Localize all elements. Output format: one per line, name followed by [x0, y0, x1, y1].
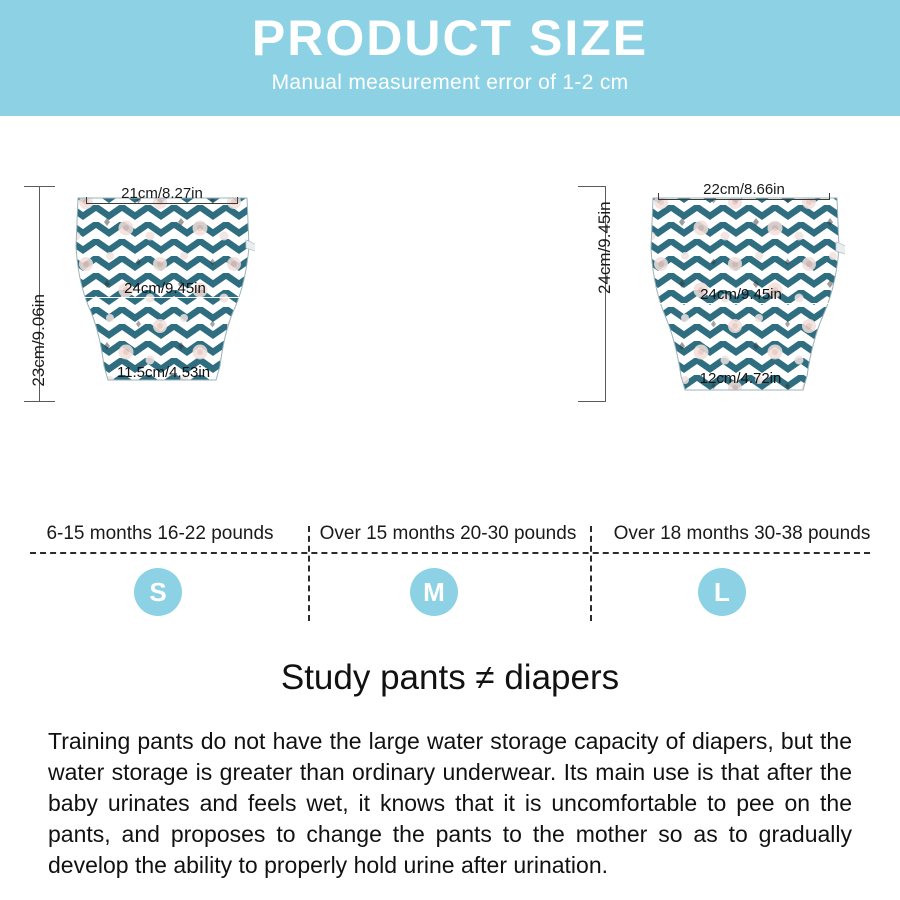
page-header: PRODUCT SIZE Manual measurement error of…: [0, 0, 900, 116]
height-dimension-s: 23cm/9.06in: [22, 186, 56, 402]
top-width-label-s: 21cm/8.27in: [86, 185, 238, 202]
age-weight-label-m: Over 15 months 20-30 pounds: [320, 523, 577, 545]
top-width-dimension-s: 21cm/8.27in: [86, 182, 238, 204]
size-badge-l: L: [698, 568, 746, 616]
age-weight-m: Over 15 months 20-30 pounds: [312, 520, 584, 548]
description-paragraph: Training pants do not have the large wat…: [48, 726, 852, 881]
section-headline: Study pants ≠ diapers: [0, 656, 900, 700]
height-label-s: 23cm/9.06in: [29, 294, 49, 387]
age-weight-l: Over 18 months 30-38 pounds: [596, 520, 888, 548]
middle-width-label-s: 24cm/9.45in: [74, 280, 256, 297]
vertical-divider-1: [308, 526, 310, 621]
age-weight-s: 6-15 months 16-22 pounds: [18, 520, 302, 548]
size-panel-s: 23cm/9.06in 21cm/8.27in 24cm/9.45in 11.5…: [0, 174, 300, 514]
vertical-divider-2: [590, 526, 592, 621]
page-title: PRODUCT SIZE: [252, 10, 648, 66]
horizontal-divider: [30, 552, 870, 554]
page-subtitle: Manual measurement error of 1-2 cm: [272, 70, 629, 96]
size-legend-row: 6-15 months 16-22 pounds Over 15 months …: [0, 520, 900, 650]
age-weight-label-l: Over 18 months 30-38 pounds: [614, 523, 871, 545]
bottom-width-label-s: 11.5cm/4.53in: [86, 364, 241, 381]
size-badge-m: M: [410, 568, 458, 616]
size-panel-l: 24cm/9.45in 22.5cm/8.86in 27cm/10.63in 1…: [600, 174, 900, 514]
dimension-cap-right: [237, 197, 238, 204]
size-badge-s: S: [134, 568, 182, 616]
middle-width-dimension-s: 24cm/9.45in: [74, 278, 256, 298]
dimension-line: [86, 203, 238, 204]
dimension-line: [74, 297, 256, 299]
size-illustration-panels: 23cm/9.06in 21cm/8.27in 24cm/9.45in 11.5…: [0, 174, 900, 514]
size-panel-m: 24cm/9.45in 22cm/8.66in 24cm/9.45in 12cm…: [300, 174, 600, 514]
age-weight-label-s: 6-15 months 16-22 pounds: [46, 523, 273, 545]
dimension-tick-bottom: [24, 401, 55, 402]
